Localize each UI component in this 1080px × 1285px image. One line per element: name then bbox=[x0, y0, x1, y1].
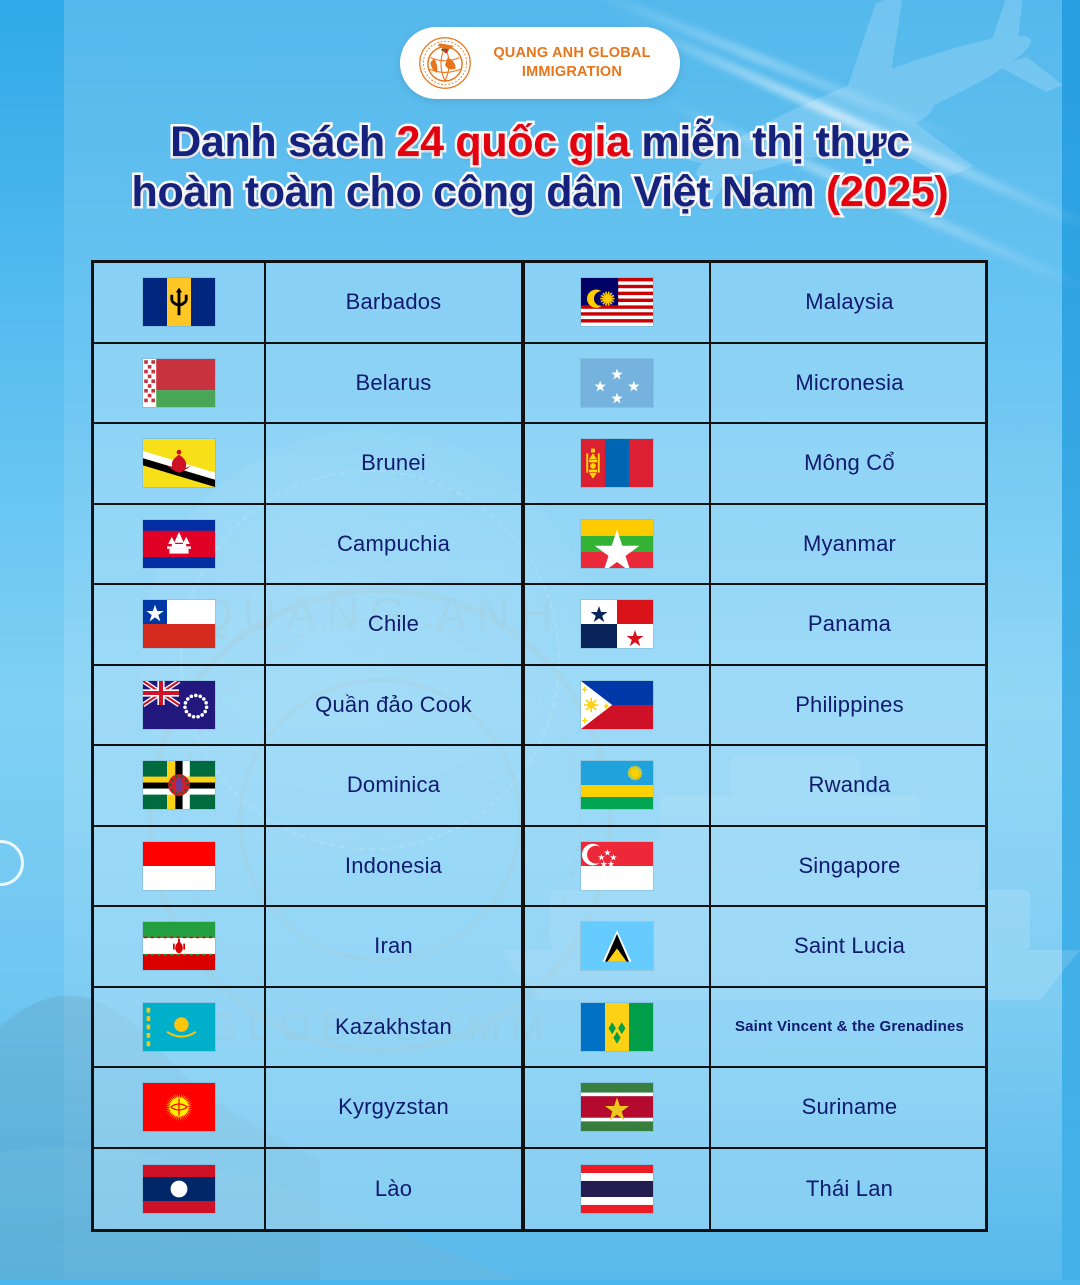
country-name-cell: Lào bbox=[266, 1149, 525, 1230]
country-flag-cell bbox=[525, 988, 711, 1069]
country-name: Mông Cổ bbox=[798, 450, 901, 476]
title-text-2: miễn thị thực bbox=[630, 118, 910, 166]
flag-belarus-icon bbox=[143, 359, 215, 407]
country-name: Saint Vincent & the Grenadines bbox=[729, 1018, 970, 1035]
flag-rwanda-icon bbox=[581, 761, 653, 809]
country-name-cell: Kazakhstan bbox=[266, 988, 525, 1069]
flag-kyrgyzstan-icon bbox=[143, 1083, 215, 1131]
country-name-cell: Barbados bbox=[266, 263, 525, 344]
country-name: Philippines bbox=[789, 692, 910, 718]
flag-kazakhstan-icon bbox=[143, 1003, 215, 1051]
flag-mongolia-icon bbox=[581, 439, 653, 487]
country-flag-cell bbox=[525, 827, 711, 908]
brand-logo-line2: IMMIGRATION bbox=[522, 64, 622, 80]
flag-chile-icon bbox=[143, 600, 215, 648]
country-flag-cell bbox=[94, 988, 266, 1069]
country-flag-cell bbox=[525, 907, 711, 988]
country-flag-cell bbox=[94, 666, 266, 747]
page-title-line2: hoàn toàn cho công dân Việt Nam (2025) bbox=[0, 168, 1080, 218]
flag-panama-icon bbox=[581, 600, 653, 648]
flag-myanmar-icon bbox=[581, 520, 653, 568]
flag-iran-icon bbox=[143, 922, 215, 970]
title-highlight-year: (2025) bbox=[826, 168, 949, 216]
country-name-cell: Singapore bbox=[711, 827, 988, 908]
country-name-cell: Campuchia bbox=[266, 505, 525, 586]
country-name-cell: Micronesia bbox=[711, 344, 988, 425]
country-name: Belarus bbox=[350, 370, 438, 396]
flag-barbados-icon bbox=[143, 278, 215, 326]
country-flag-cell bbox=[525, 344, 711, 425]
flag-philippines-icon bbox=[581, 681, 653, 729]
flag-laos-icon bbox=[143, 1165, 215, 1213]
country-flag-cell bbox=[94, 263, 266, 344]
country-name: Malaysia bbox=[799, 289, 899, 315]
country-name: Chile bbox=[362, 611, 425, 637]
country-name: Thái Lan bbox=[800, 1176, 899, 1202]
country-flag-cell bbox=[525, 746, 711, 827]
country-flag-cell bbox=[94, 827, 266, 908]
flag-dominica-icon bbox=[143, 761, 215, 809]
country-name-cell: Panama bbox=[711, 585, 988, 666]
country-name: Barbados bbox=[340, 289, 448, 315]
country-name: Indonesia bbox=[339, 853, 448, 879]
country-flag-cell bbox=[94, 907, 266, 988]
country-name-cell: Brunei bbox=[266, 424, 525, 505]
country-flag-cell bbox=[94, 746, 266, 827]
country-flag-cell bbox=[94, 585, 266, 666]
country-name: Dominica bbox=[341, 772, 446, 798]
country-name: Panama bbox=[802, 611, 897, 637]
flag-thailand-icon bbox=[581, 1165, 653, 1213]
country-flag-cell bbox=[525, 505, 711, 586]
country-name: Saint Lucia bbox=[788, 933, 911, 959]
country-name-cell: Rwanda bbox=[711, 746, 988, 827]
brand-logo-text: QUANG ANH GLOBAL IMMIGRATION bbox=[482, 44, 662, 81]
flag-cambodia-icon bbox=[143, 520, 215, 568]
country-name: Suriname bbox=[796, 1094, 904, 1120]
country-flag-cell bbox=[525, 1068, 711, 1149]
country-name-cell: Saint Lucia bbox=[711, 907, 988, 988]
flag-saint-vincent-icon bbox=[581, 1003, 653, 1051]
country-flag-cell bbox=[525, 1149, 711, 1230]
page-title: Danh sách 24 quốc gia miễn thị thực hoàn… bbox=[0, 118, 1080, 218]
country-name-cell: Myanmar bbox=[711, 505, 988, 586]
country-name-cell: Chile bbox=[266, 585, 525, 666]
country-name-cell: Indonesia bbox=[266, 827, 525, 908]
country-flag-cell bbox=[525, 263, 711, 344]
country-name: Campuchia bbox=[331, 531, 456, 557]
flag-brunei-icon bbox=[143, 439, 215, 487]
country-flag-cell bbox=[525, 666, 711, 747]
country-name: Myanmar bbox=[797, 531, 902, 557]
country-name: Singapore bbox=[792, 853, 906, 879]
flag-micronesia-icon bbox=[581, 359, 653, 407]
country-name-cell: Quần đảo Cook bbox=[266, 666, 525, 747]
flag-indonesia-icon bbox=[143, 842, 215, 890]
country-name: Kazakhstan bbox=[329, 1014, 458, 1040]
country-name-cell: Kyrgyzstan bbox=[266, 1068, 525, 1149]
title-highlight-count: 24 quốc gia bbox=[396, 118, 629, 166]
country-name: Lào bbox=[369, 1176, 418, 1202]
country-name-cell: Dominica bbox=[266, 746, 525, 827]
flag-suriname-icon bbox=[581, 1083, 653, 1131]
country-table: BarbadosMalaysiaBelarusMicronesiaBruneiM… bbox=[91, 260, 988, 1232]
country-name-cell: Belarus bbox=[266, 344, 525, 425]
country-flag-cell bbox=[525, 585, 711, 666]
title-text-1: Danh sách bbox=[170, 118, 396, 166]
country-name-cell: Philippines bbox=[711, 666, 988, 747]
country-flag-cell bbox=[94, 505, 266, 586]
country-flag-cell bbox=[94, 344, 266, 425]
country-name: Iran bbox=[368, 933, 419, 959]
flag-singapore-icon bbox=[581, 842, 653, 890]
country-name-cell: Saint Vincent & the Grenadines bbox=[711, 988, 988, 1069]
country-flag-cell bbox=[94, 424, 266, 505]
country-name-cell: Iran bbox=[266, 907, 525, 988]
flag-saint-lucia-icon bbox=[581, 922, 653, 970]
globe-airplane-icon bbox=[418, 36, 472, 90]
flag-cook-islands-icon bbox=[143, 681, 215, 729]
country-name: Rwanda bbox=[803, 772, 897, 798]
country-name: Micronesia bbox=[789, 370, 909, 396]
country-flag-cell bbox=[525, 424, 711, 505]
title-text-3: hoàn toàn cho công dân Việt Nam bbox=[132, 168, 826, 216]
country-flag-cell bbox=[94, 1068, 266, 1149]
country-name-cell: Thái Lan bbox=[711, 1149, 988, 1230]
brand-logo: QUANG ANH GLOBAL IMMIGRATION bbox=[400, 27, 680, 99]
country-name-cell: Malaysia bbox=[711, 263, 988, 344]
page-title-line1: Danh sách 24 quốc gia miễn thị thực bbox=[0, 118, 1080, 168]
country-flag-cell bbox=[94, 1149, 266, 1230]
country-name: Quần đảo Cook bbox=[309, 692, 478, 718]
country-name: Brunei bbox=[355, 450, 432, 476]
country-name: Kyrgyzstan bbox=[332, 1094, 455, 1120]
flag-malaysia-icon bbox=[581, 278, 653, 326]
country-name-cell: Mông Cổ bbox=[711, 424, 988, 505]
brand-logo-line1: QUANG ANH GLOBAL bbox=[493, 45, 650, 61]
country-name-cell: Suriname bbox=[711, 1068, 988, 1149]
